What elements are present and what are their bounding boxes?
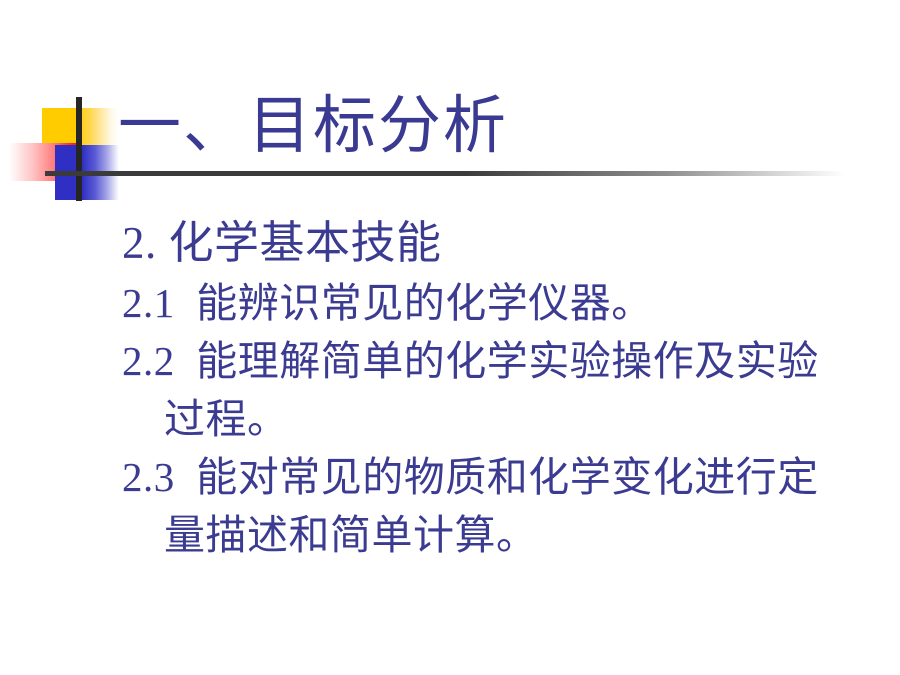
list-item-2-3-line2: 量描述和简单计算。 [122, 506, 862, 564]
list-item-2-1-line1: 2.1 能辨识常见的化学仪器。 [122, 274, 862, 332]
blue-block-icon [55, 145, 119, 200]
vertical-bar-icon [76, 97, 82, 201]
list-item-2-3-line1: 2.3 能对常见的物质和化学变化进行定 [122, 448, 862, 506]
list-item-2-2-line1: 2.2 能理解简单的化学实验操作及实验 [122, 332, 862, 390]
horizontal-rule-icon [45, 171, 845, 176]
body-heading: 2. 化学基本技能 [122, 212, 862, 274]
presentation-slide: 一、目标分析 2. 化学基本技能 2.1 能辨识常见的化学仪器。 2.2 能理解… [0, 0, 900, 675]
list-item-2-2-line2: 过程。 [122, 390, 862, 448]
slide-body: 2. 化学基本技能 2.1 能辨识常见的化学仪器。 2.2 能理解简单的化学实验… [122, 212, 862, 564]
slide-title: 一、目标分析 [118, 90, 508, 162]
red-block-icon [9, 143, 76, 181]
yellow-block-icon [42, 108, 118, 146]
